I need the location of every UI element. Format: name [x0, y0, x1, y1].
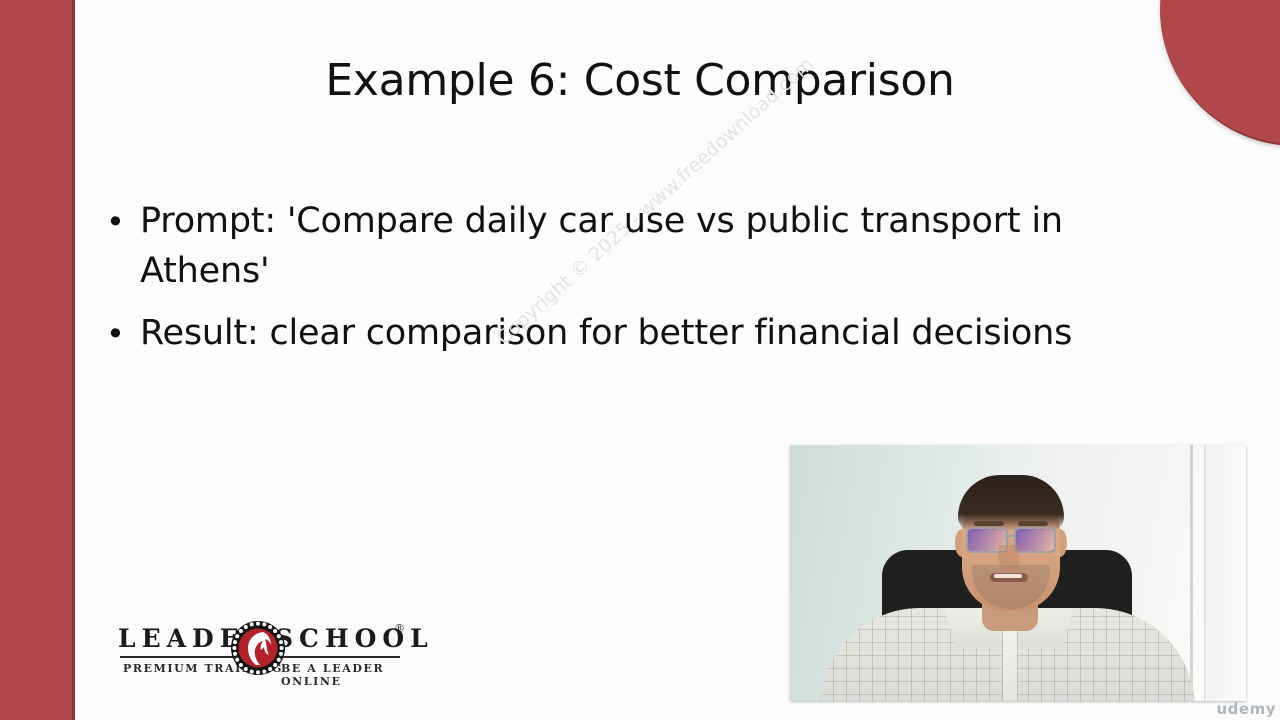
wall-edge-line — [1190, 445, 1193, 701]
slide-canvas: Example 6: Cost Comparison • Prompt: 'Co… — [0, 0, 1280, 720]
eyeglasses-bridge — [1004, 535, 1014, 537]
left-accent-bar — [0, 0, 72, 720]
instructor-webcam-video[interactable] — [790, 445, 1246, 701]
person-teeth — [994, 574, 1022, 578]
eyeglasses-lens-right — [1014, 527, 1056, 553]
slide-title: Example 6: Cost Comparison — [100, 55, 1180, 106]
bullet-marker-icon: • — [100, 196, 140, 248]
bullet-marker-icon: • — [100, 308, 140, 360]
person-nose — [999, 545, 1019, 571]
lion-crest-emblem-icon — [230, 620, 286, 676]
shirt-placket — [1002, 627, 1018, 701]
bullet-text: Prompt: 'Compare daily car use vs public… — [140, 196, 1200, 296]
bullet-list: • Prompt: 'Compare daily car use vs publ… — [100, 196, 1200, 372]
wall-edge-line — [1204, 445, 1206, 701]
person-eyebrow-right — [1018, 521, 1048, 526]
wall-panel — [1207, 445, 1246, 701]
person-eyebrow-left — [974, 521, 1004, 526]
leader-school-logo: LEADER SCHOOL ® PREMIUM TRAINING BE A LE… — [118, 620, 403, 678]
udemy-watermark: udemy — [1217, 700, 1277, 718]
logo-word-school: SCHOOL — [275, 624, 434, 653]
logo-tagline-right: BE A LEADER ONLINE — [281, 662, 403, 688]
bullet-item: • Result: clear comparison for better fi… — [100, 308, 1200, 360]
bullet-item: • Prompt: 'Compare daily car use vs publ… — [100, 196, 1200, 296]
left-accent-bar-edge — [72, 0, 75, 720]
registered-trademark-mark: ® — [394, 622, 405, 635]
bullet-text: Result: clear comparison for better fina… — [140, 308, 1200, 358]
